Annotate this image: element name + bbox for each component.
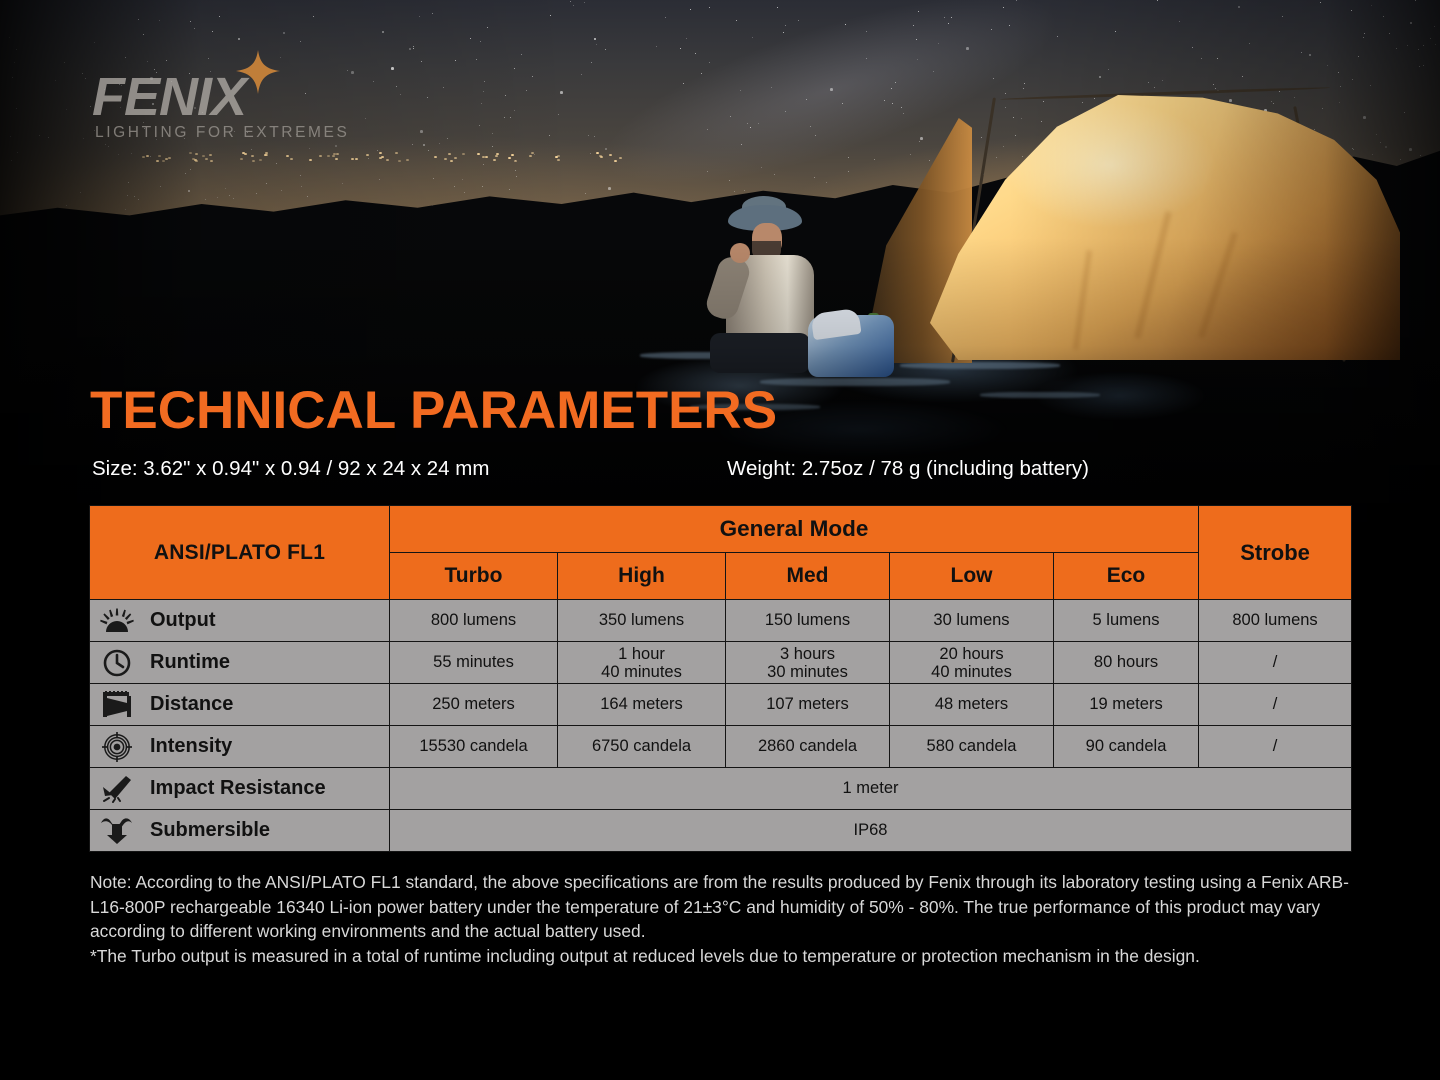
cell-submersible-value: IP68	[390, 810, 1352, 852]
header-general-mode: General Mode	[390, 506, 1199, 553]
table-row-submersible: Submersible IP68	[90, 810, 1352, 852]
fenix-logo: FENIX LIGHTING FOR EXTREMES	[92, 68, 392, 148]
row-label-intensity: Intensity	[90, 726, 390, 768]
cell-intensity-med: 2860 candela	[726, 726, 890, 768]
spec-table-wrapper: ANSI/PLATO FL1 General Mode Strobe Turbo…	[89, 505, 1351, 852]
cell-intensity-strobe: /	[1199, 726, 1352, 768]
cell-intensity-high: 6750 candela	[558, 726, 726, 768]
footnote-block: Note: According to the ANSI/PLATO FL1 st…	[90, 870, 1365, 968]
table-row-output: Output 800 lumens 350 lumens 150 lumens …	[90, 600, 1352, 642]
target-intensity-icon	[98, 732, 136, 762]
table-row-distance: Distance 250 meters 164 meters 107 meter…	[90, 684, 1352, 726]
weight-spec: Weight: 2.75oz / 78 g (including battery…	[727, 457, 1089, 481]
row-label-text: Impact Resistance	[148, 777, 326, 800]
row-label-distance: Distance	[90, 684, 390, 726]
cell-runtime-high: 1 hour40 minutes	[558, 642, 726, 684]
cell-runtime-low: 20 hours40 minutes	[890, 642, 1054, 684]
header-mode-eco: Eco	[1054, 553, 1199, 600]
cell-runtime-eco: 80 hours	[1054, 642, 1199, 684]
header-mode-med: Med	[726, 553, 890, 600]
row-label-impact-resistance: Impact Resistance	[90, 768, 390, 810]
cell-output-strobe: 800 lumens	[1199, 600, 1352, 642]
cell-distance-turbo: 250 meters	[390, 684, 558, 726]
cell-output-med: 150 lumens	[726, 600, 890, 642]
header-mode-low: Low	[890, 553, 1054, 600]
row-label-text: Output	[148, 609, 216, 632]
row-label-text: Intensity	[148, 735, 232, 758]
cell-distance-med: 107 meters	[726, 684, 890, 726]
table-row-intensity: Intensity 15530 candela 6750 candela 286…	[90, 726, 1352, 768]
brand-name: FENIX	[92, 68, 392, 126]
page-title: TECHNICAL PARAMETERS	[90, 381, 777, 441]
table-head-row-1: ANSI/PLATO FL1 General Mode Strobe	[90, 506, 1352, 553]
row-label-submersible: Submersible	[90, 810, 390, 852]
cell-intensity-low: 580 candela	[890, 726, 1054, 768]
cell-runtime-med: 3 hours30 minutes	[726, 642, 890, 684]
header-strobe: Strobe	[1199, 506, 1352, 600]
impact-drop-icon	[98, 774, 136, 804]
page-root: FENIX LIGHTING FOR EXTREMES TECHNICAL PA…	[0, 0, 1440, 1080]
sunburst-icon	[98, 606, 136, 636]
cell-intensity-turbo: 15530 candela	[390, 726, 558, 768]
cell-distance-eco: 19 meters	[1054, 684, 1199, 726]
header-ansi-plato: ANSI/PLATO FL1	[90, 506, 390, 600]
table-row-impact-resistance: Impact Resistance 1 meter	[90, 768, 1352, 810]
beam-distance-icon	[98, 690, 136, 720]
table-body: Output 800 lumens 350 lumens 150 lumens …	[90, 600, 1352, 852]
footnote-line-1: Note: According to the ANSI/PLATO FL1 st…	[90, 870, 1365, 944]
cell-distance-low: 48 meters	[890, 684, 1054, 726]
cell-runtime-turbo: 55 minutes	[390, 642, 558, 684]
cell-intensity-eco: 90 candela	[1054, 726, 1199, 768]
cell-output-turbo: 800 lumens	[390, 600, 558, 642]
cell-runtime-strobe: /	[1199, 642, 1352, 684]
size-spec: Size: 3.62" x 0.94" x 0.94 / 92 x 24 x 2…	[92, 457, 489, 481]
table-head: ANSI/PLATO FL1 General Mode Strobe Turbo…	[90, 506, 1352, 600]
cell-output-eco: 5 lumens	[1054, 600, 1199, 642]
row-label-text: Distance	[148, 693, 233, 716]
cell-impact-resistance-value: 1 meter	[390, 768, 1352, 810]
submersible-icon	[98, 816, 136, 846]
cell-distance-high: 164 meters	[558, 684, 726, 726]
header-mode-high: High	[558, 553, 726, 600]
brand-tagline: LIGHTING FOR EXTREMES	[95, 124, 392, 142]
row-label-text: Submersible	[148, 819, 270, 842]
row-label-output: Output	[90, 600, 390, 642]
row-label-runtime: Runtime	[90, 642, 390, 684]
cell-output-low: 30 lumens	[890, 600, 1054, 642]
row-label-text: Runtime	[148, 651, 230, 674]
header-mode-turbo: Turbo	[390, 553, 558, 600]
cell-distance-strobe: /	[1199, 684, 1352, 726]
table-row-runtime: Runtime 55 minutes 1 hour40 minutes 3 ho…	[90, 642, 1352, 684]
footnote-line-2: *The Turbo output is measured in a total…	[90, 944, 1365, 969]
technical-parameters-table: ANSI/PLATO FL1 General Mode Strobe Turbo…	[89, 505, 1352, 852]
cell-output-high: 350 lumens	[558, 600, 726, 642]
clock-icon	[98, 648, 136, 678]
